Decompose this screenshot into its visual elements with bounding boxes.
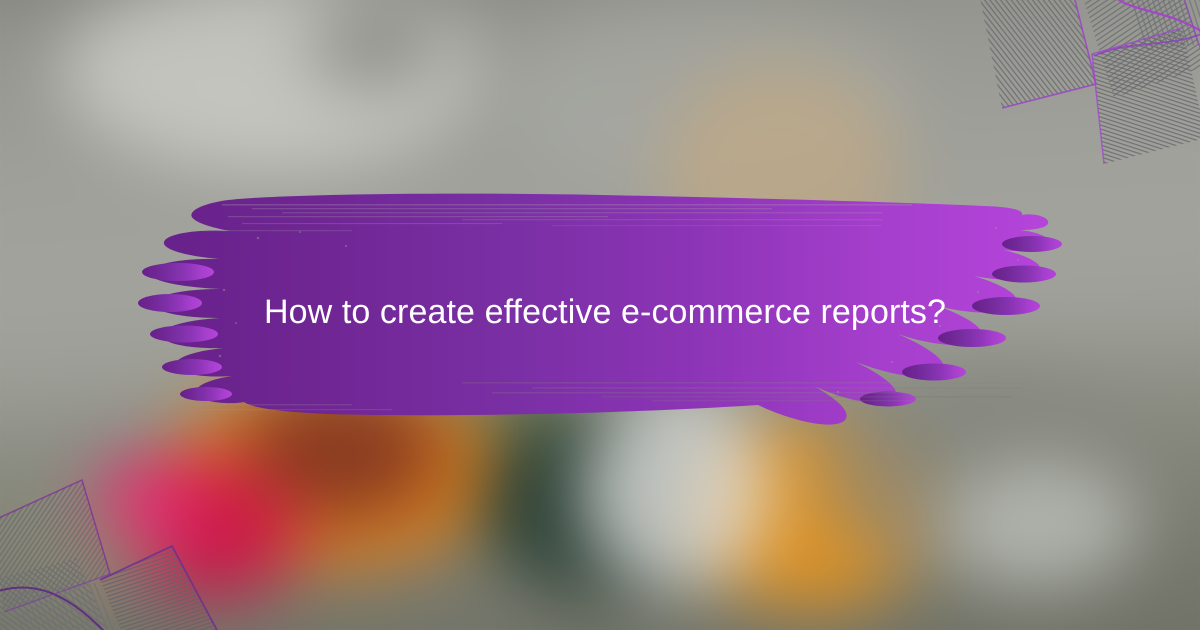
share-card-canvas: How to create effective e-commerce repor… — [0, 0, 1200, 630]
background-blob-white-right — [940, 460, 1140, 590]
background-blob-dark-spot — [310, 0, 440, 90]
headline-text: How to create effective e-commerce repor… — [264, 292, 946, 333]
background-blob-olive — [0, 500, 160, 610]
page-title: How to create effective e-commerce repor… — [0, 186, 1200, 438]
